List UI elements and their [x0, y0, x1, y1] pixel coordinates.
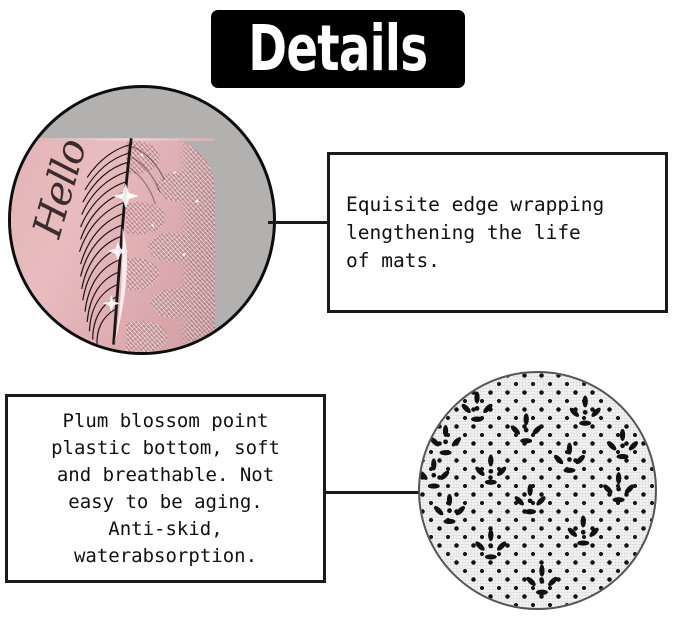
details-title-banner: Details: [211, 10, 465, 88]
callout-edge-wrapping: Equisite edge wrapping lengthening the l…: [327, 152, 668, 313]
plum-blossom-pattern: [420, 373, 655, 608]
product-details-page: Details: [0, 0, 679, 619]
callout-plastic-bottom: Plum blossom point plastic bottom, soft …: [5, 394, 326, 583]
connector-text-to-backing: [324, 491, 420, 494]
anti-skid-backing-photo: [418, 371, 657, 610]
callout-edge-wrapping-text: Equisite edge wrapping lengthening the l…: [330, 191, 604, 275]
connector-mat-to-text: [268, 221, 330, 224]
mat-edge-photo: Hello: [8, 85, 276, 355]
callout-plastic-bottom-text: Plum blossom point plastic bottom, soft …: [8, 408, 323, 570]
page-title: Details: [248, 17, 427, 81]
